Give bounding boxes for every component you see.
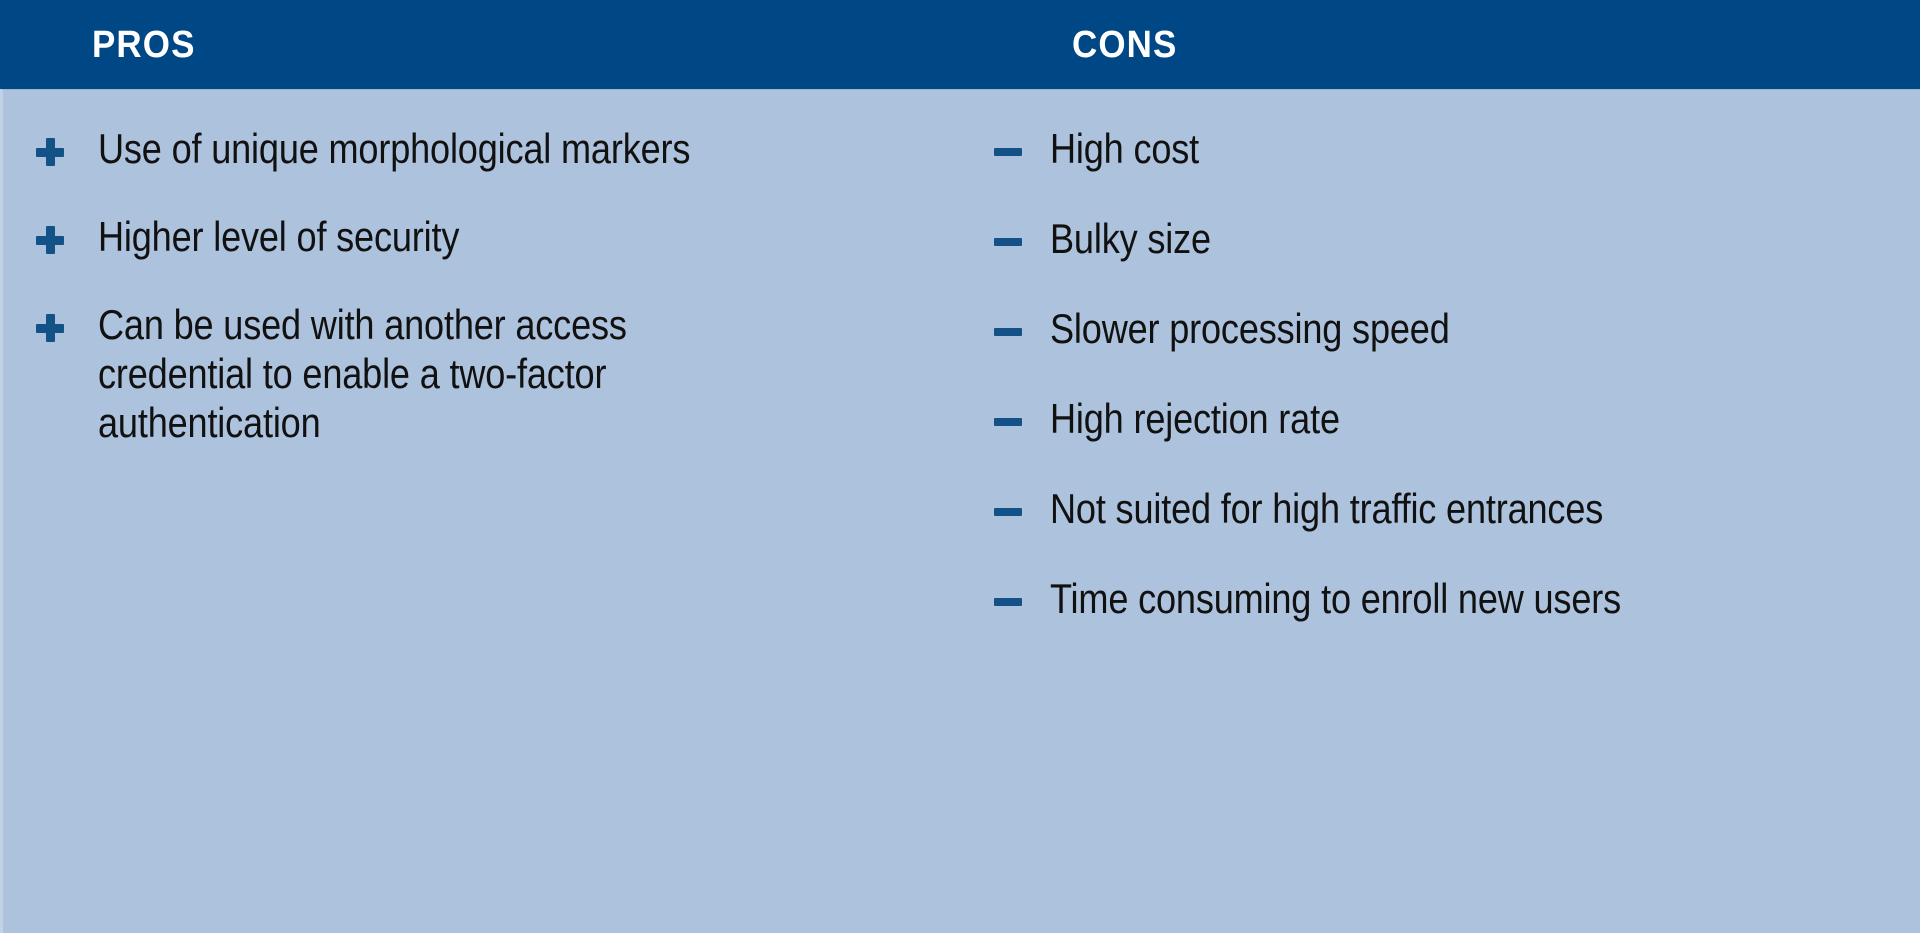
- minus-icon: [994, 408, 1022, 436]
- minus-marker: [994, 214, 1050, 256]
- list-item-label: Use of unique morphological markers: [98, 124, 858, 173]
- list-item-label: Slower processing speed: [1050, 304, 1798, 353]
- pros-cons-table: PROS CONS Use of unique morphological ma…: [0, 0, 1927, 933]
- list-item-label: Not suited for high traffic entrances: [1050, 484, 1798, 533]
- minus-marker: [994, 484, 1050, 526]
- plus-icon: [36, 138, 64, 166]
- minus-icon: [994, 498, 1022, 526]
- plus-marker: [36, 124, 98, 166]
- list-item: Bulky size: [994, 214, 1920, 263]
- pros-column: Use of unique morphological markers High…: [3, 90, 981, 933]
- minus-icon: [994, 228, 1022, 256]
- minus-marker: [994, 574, 1050, 616]
- table-header-band: PROS CONS: [0, 0, 1920, 89]
- list-item-label: High rejection rate: [1050, 394, 1798, 443]
- cons-header-cell: CONS: [1072, 0, 1187, 89]
- list-item-label: Time consuming to enroll new users: [1050, 574, 1798, 623]
- list-item: High rejection rate: [994, 394, 1920, 443]
- list-item-label: Can be used with another access credenti…: [98, 300, 858, 447]
- minus-marker: [994, 394, 1050, 436]
- pros-header-label: PROS: [92, 26, 196, 64]
- list-item: Slower processing speed: [994, 304, 1920, 353]
- plus-marker: [36, 212, 98, 254]
- minus-icon: [994, 588, 1022, 616]
- pros-header-cell: PROS: [92, 0, 205, 89]
- list-item-label: High cost: [1050, 124, 1798, 173]
- minus-icon: [994, 318, 1022, 346]
- table-body-band: Use of unique morphological markers High…: [0, 89, 1920, 933]
- minus-marker: [994, 124, 1050, 166]
- minus-icon: [994, 138, 1022, 166]
- cons-header-label: CONS: [1072, 26, 1177, 64]
- list-item: High cost: [994, 124, 1920, 173]
- list-item-label: Higher level of security: [98, 212, 858, 261]
- plus-marker: [36, 300, 98, 342]
- list-item: Can be used with another access credenti…: [36, 300, 981, 447]
- minus-marker: [994, 304, 1050, 346]
- list-item: Not suited for high traffic entrances: [994, 484, 1920, 533]
- cons-column: High cost Bulky size Slower processing s…: [981, 90, 1920, 933]
- plus-icon: [36, 226, 64, 254]
- list-item: Use of unique morphological markers: [36, 124, 981, 173]
- plus-icon: [36, 314, 64, 342]
- list-item: Time consuming to enroll new users: [994, 574, 1920, 623]
- right-gutter: [1920, 0, 1927, 933]
- list-item: Higher level of security: [36, 212, 981, 261]
- list-item-label: Bulky size: [1050, 214, 1798, 263]
